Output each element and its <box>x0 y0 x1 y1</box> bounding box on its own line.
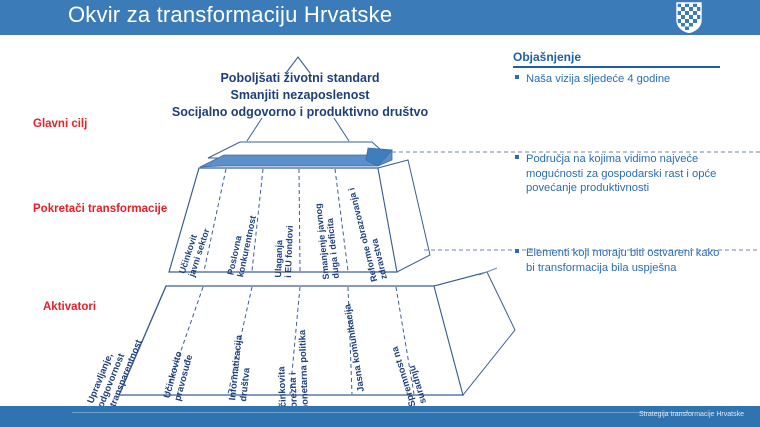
bullet-marker-icon <box>515 249 519 253</box>
footer-divider <box>72 412 692 413</box>
explanation-bullet-0: Naša vizija sljedeće 4 godine <box>515 72 730 87</box>
explanation-bullet-text: Područja na kojima vidimo najveće mogućn… <box>526 152 730 196</box>
explanation-title: Objašnjenje <box>513 50 581 64</box>
explanation-bullet-1: Područja na kojima vidimo najveće mogućn… <box>515 152 730 196</box>
slide-canvas: Okvir za transformaciju Hrvatske Glavni … <box>0 0 760 427</box>
explanation-bullet-text: Naša vizija sljedeće 4 godine <box>526 72 730 87</box>
driver-label-2: Ulaganja i EU fondovi <box>273 225 295 278</box>
explanation-bullet-text: Elementi koji moraju biti ostvareni kako… <box>526 246 730 275</box>
bullet-marker-icon <box>515 155 519 159</box>
activator-label-3: Učinkovita porezna i monetarna politika <box>274 330 310 414</box>
explanation-bullet-2: Elementi koji moraju biti ostvareni kako… <box>515 246 730 275</box>
explanation-underline <box>513 66 720 68</box>
footer-text: Strategija transformacije Hrvatske <box>639 411 744 418</box>
bullet-marker-icon <box>515 75 519 79</box>
